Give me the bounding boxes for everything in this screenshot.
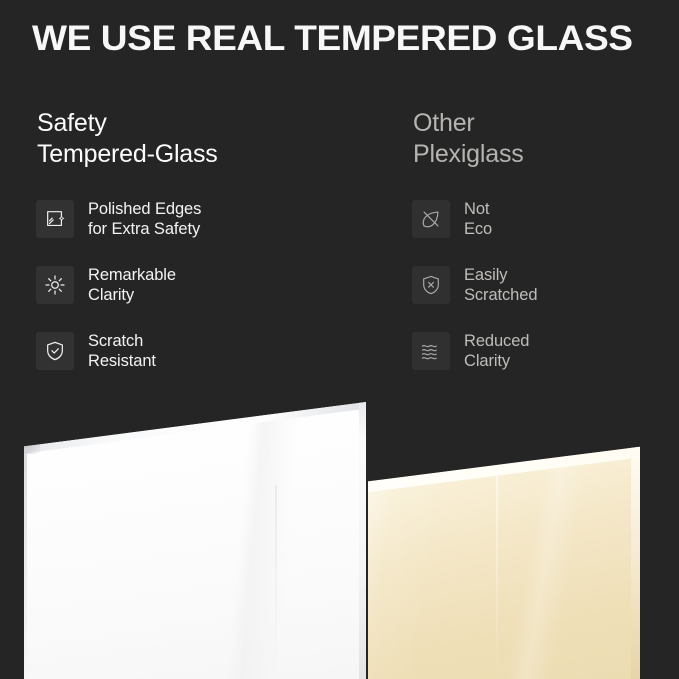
page-title: WE USE REAL TEMPERED GLASS bbox=[32, 17, 679, 59]
feature-scratch-resistant: Scratch Resistant bbox=[36, 329, 376, 373]
feature-not-eco: Not Eco bbox=[412, 197, 672, 241]
glass-left-edge bbox=[24, 449, 27, 679]
glass-reflection-seam bbox=[275, 485, 277, 679]
plexiglass-reflection-seam bbox=[496, 465, 498, 679]
shield-check-icon bbox=[36, 332, 74, 370]
feature-easily-scratched: Easily Scratched bbox=[412, 263, 672, 307]
feature-label-reduced-clarity: Reduced Clarity bbox=[464, 331, 529, 371]
glass-top-bevel bbox=[24, 402, 366, 679]
tempered-glass-comparison-infographic: WE USE REAL TEMPERED GLASS Safety Temper… bbox=[0, 0, 679, 679]
feature-reduced-clarity: Reduced Clarity bbox=[412, 329, 672, 373]
wavy-lines-icon bbox=[412, 332, 450, 370]
column-heading-plexiglass: Other Plexiglass bbox=[413, 108, 672, 170]
feature-label-polished-edges: Polished Edges for Extra Safety bbox=[88, 199, 201, 239]
sun-clarity-icon bbox=[36, 266, 74, 304]
plexiglass-top-edge bbox=[368, 412, 640, 679]
plexiglass-panel bbox=[368, 412, 640, 679]
tempered-glass-panel bbox=[24, 402, 366, 679]
feature-label-scratch-resistant: Scratch Resistant bbox=[88, 331, 156, 371]
feature-list-plexiglass: Not Eco Easily Scratched bbox=[412, 197, 672, 373]
product-comparison-image bbox=[0, 390, 679, 679]
feature-polished-edges: Polished Edges for Extra Safety bbox=[36, 197, 376, 241]
shield-x-icon bbox=[412, 266, 450, 304]
feature-label-not-eco: Not Eco bbox=[464, 199, 492, 239]
glass-right-edge bbox=[359, 402, 366, 679]
column-safety-tempered-glass: Safety Tempered-Glass Polished Edges for… bbox=[36, 108, 376, 373]
column-other-plexiglass: Other Plexiglass Not Eco bbox=[412, 108, 672, 373]
feature-remarkable-clarity: Remarkable Clarity bbox=[36, 263, 376, 307]
feature-label-remarkable-clarity: Remarkable Clarity bbox=[88, 265, 176, 305]
plexiglass-right-edge bbox=[631, 447, 640, 679]
polished-edge-sparkle-icon bbox=[36, 200, 74, 238]
column-heading-tempered-glass: Safety Tempered-Glass bbox=[37, 108, 376, 170]
leaf-crossed-out-icon bbox=[412, 200, 450, 238]
feature-label-easily-scratched: Easily Scratched bbox=[464, 265, 537, 305]
feature-list-tempered-glass: Polished Edges for Extra Safety Remarkab… bbox=[36, 197, 376, 373]
